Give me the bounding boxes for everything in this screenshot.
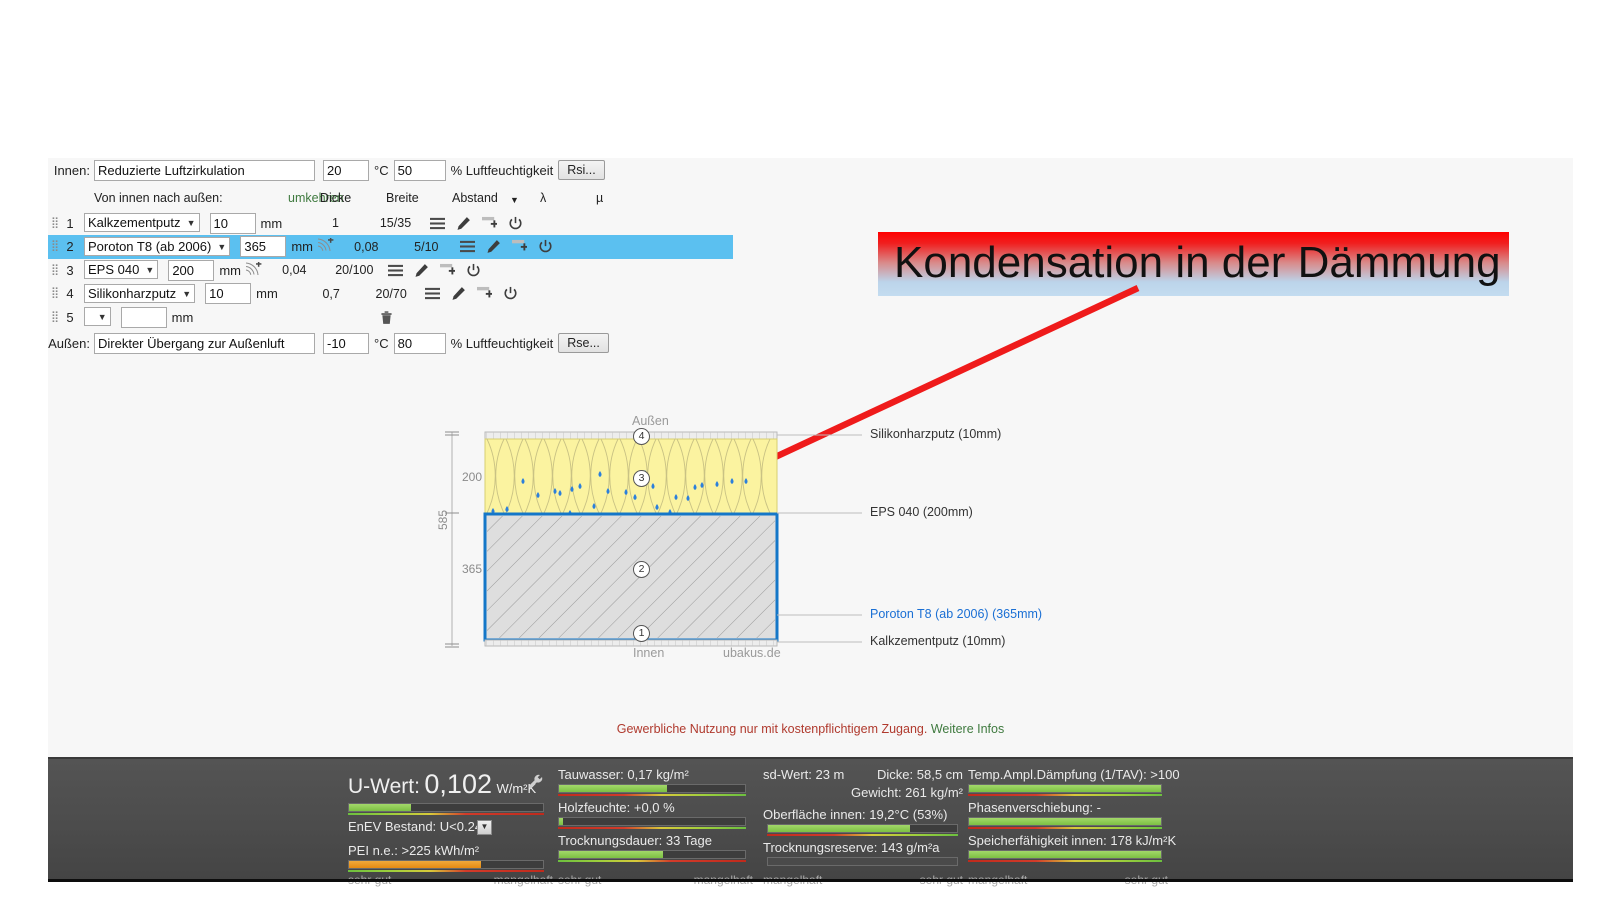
oberflaeche-scale: [767, 834, 958, 836]
layer-row-5[interactable]: ⣿5 ▼mm: [48, 305, 733, 329]
layer-badge-1: 1: [633, 625, 650, 642]
results-footer: U-Wert: 0,102 W/m²K EnEV Bestand: U<0.24…: [48, 757, 1573, 881]
layer-index: 1: [62, 216, 78, 231]
oberflaeche-bar: [767, 824, 958, 833]
outer-temperature-input[interactable]: [323, 333, 369, 354]
header-width: Breite: [386, 191, 419, 205]
more-info-link[interactable]: Weitere Infos: [931, 722, 1004, 736]
layer-thickness-unit: mm: [251, 286, 280, 301]
wall-cross-section-diagram: 200 365 585 Außen Innen ubakus.de 4 3 2 …: [430, 410, 1050, 670]
material-select-value: Kalkzementputz: [84, 213, 200, 232]
trocknungsdauer-value: Trocknungsdauer: 33 Tage: [558, 833, 712, 848]
oberflaeche-value: Oberfläche innen: 19,2°C (53%): [763, 807, 947, 822]
layer-lambda: 0,7: [299, 287, 363, 301]
inner-condition-input[interactable]: [94, 160, 315, 181]
menu-icon[interactable]: [388, 263, 403, 278]
tav-bar: [968, 784, 1162, 793]
layer-lambda: 0,04: [262, 263, 326, 277]
layer-row-3[interactable]: ⣿3EPS 040▼mm0,0420/100: [48, 258, 733, 282]
enev-value: EnEV Bestand: U<0.24*: [348, 819, 487, 834]
outer-label: Außen:: [48, 336, 94, 351]
pei-value: PEI n.e.: >225 kWh/m²: [348, 843, 479, 858]
toggle-power-icon[interactable]: [538, 239, 553, 254]
watermark: ubakus.de: [723, 646, 781, 660]
drag-handle-icon[interactable]: ⣿: [48, 266, 62, 275]
inner-climate-row: Innen: °C % Luftfeuchtigkeit Rsi...: [48, 158, 768, 182]
layer-mu: 20/100: [326, 263, 382, 277]
material-select[interactable]: Poroton T8 (ab 2006)▼: [84, 238, 230, 256]
trocknungsreserve-bar: [767, 857, 958, 866]
layer-thickness-input[interactable]: [121, 307, 167, 328]
layer-row-1[interactable]: ⣿1Kalkzementputz▼mm115/35: [48, 211, 733, 235]
layer-detail-icon: [282, 285, 299, 302]
edit-pencil-icon[interactable]: [456, 216, 471, 231]
material-select[interactable]: ▼: [84, 308, 111, 326]
callout-silikonharzputz: Silikonharzputz (10mm): [870, 427, 1001, 441]
toggle-power-icon[interactable]: [503, 286, 518, 301]
wrench-icon[interactable]: [526, 773, 544, 791]
material-select[interactable]: Kalkzementputz▼: [84, 214, 200, 232]
drag-handle-icon[interactable]: ⣿: [48, 313, 62, 322]
outer-temperature-unit: °C: [369, 336, 394, 351]
menu-icon[interactable]: [425, 286, 440, 301]
toggle-power-icon[interactable]: [508, 216, 523, 231]
trocknungsreserve-value: Trocknungsreserve: 143 g/m²a: [763, 840, 940, 855]
dimension-brick: 365: [462, 562, 482, 576]
layer-table-header: Von innen nach außen: umkehren Dicke Bre…: [48, 191, 768, 211]
layer-actions: [425, 286, 518, 301]
trocknungsdauer-bar: [558, 850, 746, 859]
layer-thickness-input[interactable]: [168, 260, 214, 281]
layer-index: 5: [62, 310, 78, 325]
speicher-bar: [968, 850, 1162, 859]
layer-thickness-input[interactable]: [210, 213, 256, 234]
tauwasser-value: Tauwasser: 0,17 kg/m²: [558, 767, 689, 782]
commercial-use-notice: Gewerbliche Nutzung nur mit kostenpflich…: [48, 722, 1573, 736]
material-select-value: Silikonharzputz: [84, 284, 195, 303]
layer-detail-icon[interactable]: [245, 262, 262, 279]
uwert-value: 0,102: [424, 769, 492, 799]
inner-temperature-unit: °C: [369, 163, 394, 178]
add-layer-icon[interactable]: [440, 263, 455, 278]
layer-actions: [379, 310, 394, 325]
layer-thickness-unit: mm: [286, 239, 315, 254]
callout-eps: EPS 040 (200mm): [870, 505, 973, 519]
footer-column-moisture: Tauwasser: 0,17 kg/m² Holzfeuchte: +0,0 …: [558, 759, 753, 883]
holzfeuchte-bar: [558, 817, 746, 826]
layer-thickness-input[interactable]: [240, 236, 286, 257]
footer-column-uwert: U-Wert: 0,102 W/m²K EnEV Bestand: U<0.24…: [348, 759, 553, 883]
phasen-scale: [968, 827, 1162, 829]
layer-detail-icon[interactable]: [317, 238, 334, 255]
outer-climate-row: Außen: °C % Luftfeuchtigkeit Rse...: [48, 331, 768, 355]
layer-thickness-unit: mm: [214, 263, 243, 278]
rsi-button[interactable]: Rsi...: [558, 160, 604, 180]
outer-condition-input[interactable]: [94, 333, 315, 354]
layer-mu: 5/10: [398, 240, 454, 254]
uwert-scale: [348, 813, 544, 815]
material-select[interactable]: Silikonharzputz▼: [84, 285, 195, 303]
outer-humidity-unit: % Luftfeuchtigkeit: [446, 336, 559, 351]
inner-humidity-input[interactable]: [394, 160, 446, 181]
material-select-value: Poroton T8 (ab 2006): [84, 237, 230, 256]
material-select-value: [84, 307, 111, 326]
layer-row-2[interactable]: ⣿2Poroton T8 (ab 2006)▼mm0,085/10: [48, 235, 733, 259]
holzfeuchte-scale: [558, 827, 746, 829]
dimension-total: 585: [436, 510, 450, 530]
tav-value: Temp.Ampl.Dämpfung (1/TAV): >100: [968, 767, 1180, 782]
outer-humidity-input[interactable]: [394, 333, 446, 354]
layer-actions: [430, 216, 523, 231]
uwert-label: U-Wert:: [348, 775, 420, 798]
edit-pencil-icon[interactable]: [414, 263, 429, 278]
tauwasser-scale: [558, 794, 746, 796]
inner-humidity-unit: % Luftfeuchtigkeit: [446, 163, 559, 178]
layer-index: 4: [62, 286, 78, 301]
header-mu: µ: [596, 191, 603, 205]
header-spacing[interactable]: Abstand: [452, 191, 498, 205]
pei-scale: [348, 870, 544, 872]
trocknungsdauer-scale: [558, 860, 746, 862]
drag-handle-icon[interactable]: ⣿: [48, 242, 62, 251]
notice-red-text: Gewerbliche Nutzung nur mit kostenpflich…: [617, 722, 928, 736]
layer-index: 3: [62, 263, 78, 278]
inner-temperature-input[interactable]: [323, 160, 369, 181]
enev-dropdown-icon[interactable]: ▼: [477, 820, 492, 835]
layer-thickness-input[interactable]: [205, 283, 251, 304]
edit-pencil-icon[interactable]: [451, 286, 466, 301]
spacing-caret-icon[interactable]: ▼: [510, 195, 519, 205]
layer-actions: [460, 239, 553, 254]
phasen-value: Phasenverschiebung: -: [968, 800, 1101, 815]
speicher-value: Speicherfähigkeit innen: 178 kJ/m²K: [968, 833, 1176, 848]
layer-detail-icon: [287, 215, 304, 232]
sd-wert-value: sd-Wert: 23 m: [763, 767, 844, 782]
drag-handle-icon[interactable]: ⣿: [48, 219, 62, 228]
header-direction: Von innen nach außen:: [94, 191, 223, 205]
add-layer-icon[interactable]: [477, 286, 492, 301]
layer-mu: 20/70: [363, 287, 419, 301]
layer-mu: 15/35: [368, 216, 424, 230]
footer-column-properties: sd-Wert: 23 m Dicke: 58,5 cm Gewicht: 26…: [763, 759, 963, 883]
uwert-display: U-Wert: 0,102 W/m²K: [348, 769, 536, 800]
menu-icon[interactable]: [430, 216, 445, 231]
material-select-value: EPS 040: [84, 260, 158, 279]
layer-badge-4: 4: [633, 428, 650, 445]
dicke-value: Dicke: 58,5 cm: [877, 767, 963, 782]
uwert-bar: [348, 803, 544, 812]
delete-icon[interactable]: [379, 310, 394, 325]
speicher-scale: [968, 860, 1162, 862]
layer-thickness-unit: mm: [167, 310, 196, 325]
phasen-bar: [968, 817, 1162, 826]
layer-badge-2: 2: [633, 561, 650, 578]
layer-detail-icon: [198, 309, 215, 326]
layer-configuration-form: Innen: °C % Luftfeuchtigkeit Rsi...: [48, 158, 768, 182]
inner-label: Innen:: [48, 163, 94, 178]
gewicht-value: Gewicht: 261 kg/m²: [851, 785, 963, 800]
pei-bar: [348, 860, 544, 869]
layer-badge-3: 3: [633, 470, 650, 487]
outer-climate-form: Außen: °C % Luftfeuchtigkeit Rse...: [48, 331, 768, 355]
layer-lambda: 1: [304, 216, 368, 230]
edit-pencil-icon[interactable]: [486, 239, 501, 254]
drag-handle-icon[interactable]: ⣿: [48, 289, 62, 298]
header-lambda: λ: [540, 191, 546, 205]
layer-actions: [388, 263, 481, 278]
layer-lambda: 0,08: [334, 240, 398, 254]
inside-label: Innen: [633, 646, 664, 660]
footer-column-thermal: Temp.Ampl.Dämpfung (1/TAV): >100 Phasenv…: [968, 759, 1168, 883]
menu-icon[interactable]: [460, 239, 475, 254]
header-thickness: Dicke: [320, 191, 351, 205]
callout-poroton[interactable]: Poroton T8 (ab 2006) (365mm): [870, 607, 1042, 621]
add-layer-icon[interactable]: [512, 239, 527, 254]
outside-label: Außen: [632, 414, 669, 428]
material-select[interactable]: EPS 040▼: [84, 261, 158, 279]
wall-section-svg: [430, 410, 1050, 670]
holzfeuchte-value: Holzfeuchte: +0,0 %: [558, 800, 675, 815]
layer-row-4[interactable]: ⣿4Silikonharzputz▼mm0,720/70: [48, 282, 733, 306]
callout-kalkzementputz: Kalkzementputz (10mm): [870, 634, 1005, 648]
toggle-power-icon[interactable]: [466, 263, 481, 278]
tav-scale: [968, 794, 1162, 796]
layer-thickness-unit: mm: [256, 216, 285, 231]
add-layer-icon[interactable]: [482, 216, 497, 231]
layer-index: 2: [62, 239, 78, 254]
rse-button[interactable]: Rse...: [558, 333, 609, 353]
dimension-insulation: 200: [462, 470, 482, 484]
tauwasser-bar: [558, 784, 746, 793]
footer-shadow: [48, 879, 1573, 882]
